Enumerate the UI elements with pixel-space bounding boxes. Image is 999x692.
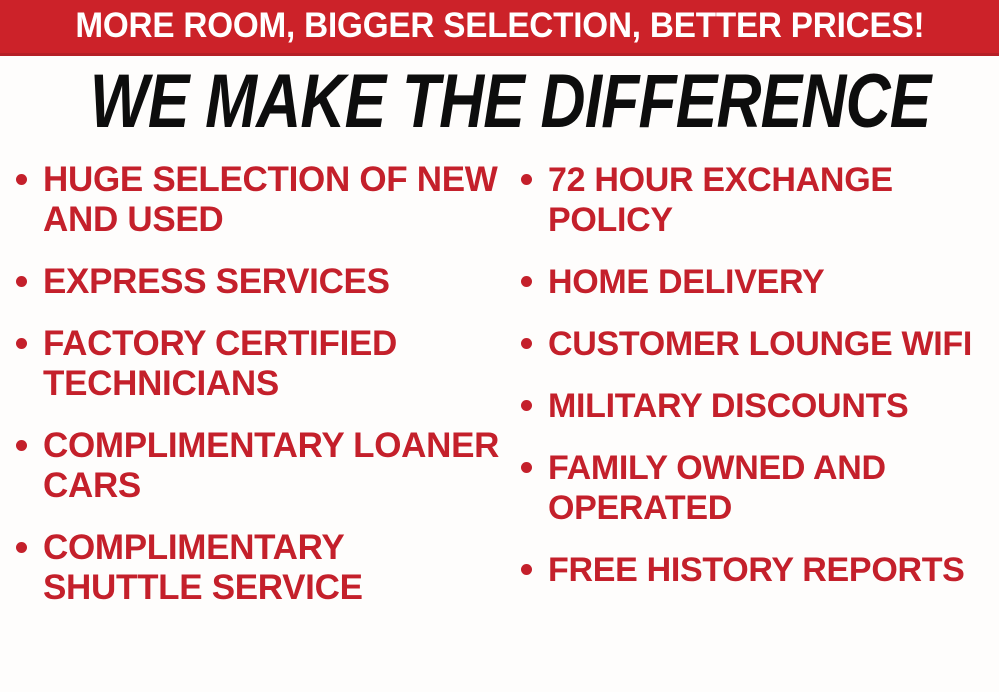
- features-columns: HUGE SELECTION OF NEW AND USED EXPRESS S…: [0, 160, 999, 692]
- list-item-label: FACTORY CERTIFIED TECHNICIANS: [43, 324, 505, 404]
- bullet-dot-icon: [521, 174, 532, 185]
- bullet-dot-icon: [16, 440, 27, 451]
- bullet-dot-icon: [16, 174, 27, 185]
- page-title: WE MAKE THE DIFFERENCE: [90, 62, 909, 142]
- list-item: 72 HOUR EXCHANGE POLICY: [521, 160, 999, 240]
- bullet-dot-icon: [521, 276, 532, 287]
- promo-banner: MORE ROOM, BIGGER SELECTION, BETTER PRIC…: [0, 0, 999, 56]
- bullet-dot-icon: [16, 338, 27, 349]
- list-item: COMPLIMENTARY LOANER CARS: [16, 426, 505, 506]
- advertisement-banner-page: MORE ROOM, BIGGER SELECTION, BETTER PRIC…: [0, 0, 999, 692]
- bullet-dot-icon: [16, 542, 27, 553]
- list-item: CUSTOMER LOUNGE WIFI: [521, 324, 999, 364]
- features-column-left: HUGE SELECTION OF NEW AND USED EXPRESS S…: [0, 160, 505, 630]
- list-item: HUGE SELECTION OF NEW AND USED: [16, 160, 505, 240]
- list-item: MILITARY DISCOUNTS: [521, 386, 999, 426]
- list-item: FAMILY OWNED AND OPERATED: [521, 448, 999, 528]
- bullet-dot-icon: [521, 400, 532, 411]
- list-item: HOME DELIVERY: [521, 262, 999, 302]
- list-item: COMPLIMENTARY SHUTTLE SERVICE: [16, 528, 505, 608]
- list-item-label: 72 HOUR EXCHANGE POLICY: [548, 160, 999, 240]
- promo-banner-text: MORE ROOM, BIGGER SELECTION, BETTER PRIC…: [75, 8, 924, 45]
- list-item: FACTORY CERTIFIED TECHNICIANS: [16, 324, 505, 404]
- bullet-dot-icon: [521, 564, 532, 575]
- list-item-label: FREE HISTORY REPORTS: [548, 550, 999, 590]
- list-item: EXPRESS SERVICES: [16, 262, 505, 302]
- bullet-dot-icon: [521, 338, 532, 349]
- bullet-dot-icon: [521, 462, 532, 473]
- list-item-label: EXPRESS SERVICES: [43, 262, 505, 302]
- list-item-label: COMPLIMENTARY SHUTTLE SERVICE: [43, 528, 505, 608]
- list-item-label: COMPLIMENTARY LOANER CARS: [43, 426, 505, 506]
- list-item-label: HUGE SELECTION OF NEW AND USED: [43, 160, 505, 240]
- features-column-right: 72 HOUR EXCHANGE POLICY HOME DELIVERY CU…: [505, 160, 999, 612]
- list-item-label: HOME DELIVERY: [548, 262, 999, 302]
- list-item-label: MILITARY DISCOUNTS: [548, 386, 999, 426]
- list-item-label: FAMILY OWNED AND OPERATED: [548, 448, 999, 528]
- list-item-label: CUSTOMER LOUNGE WIFI: [548, 324, 999, 364]
- list-item: FREE HISTORY REPORTS: [521, 550, 999, 590]
- bullet-dot-icon: [16, 276, 27, 287]
